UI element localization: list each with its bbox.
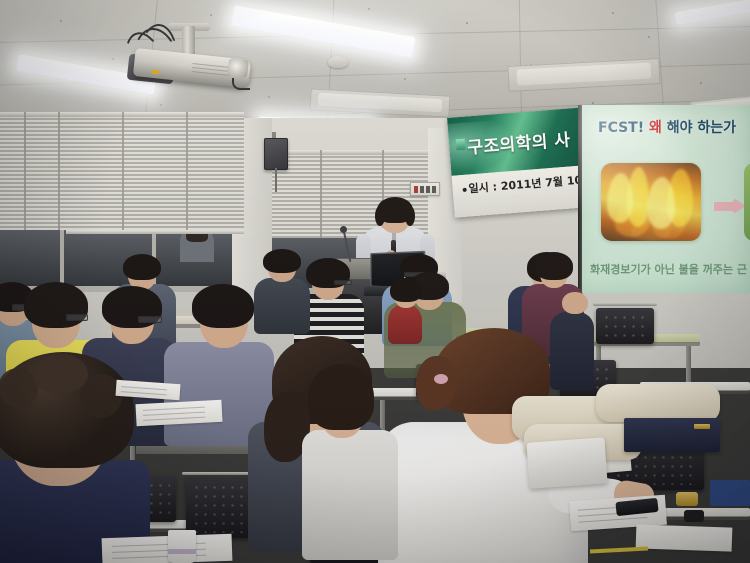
venetian-blinds[interactable] xyxy=(66,112,244,234)
handout-papers xyxy=(102,534,233,563)
ceiling-projector xyxy=(128,26,256,88)
paper-cup xyxy=(168,530,196,563)
glasses-icon xyxy=(138,316,162,323)
secondary-photo xyxy=(744,163,750,241)
stacked-bags xyxy=(596,384,720,422)
small-red-object xyxy=(684,510,704,522)
window-mullion xyxy=(60,228,64,288)
microphone-head-icon xyxy=(340,226,347,233)
projection-screen: FCST! 왜 해야 하는가 화재경보기가 아닌 불을 꺼주는 근 xyxy=(578,105,750,293)
screen-glare xyxy=(578,105,698,218)
banner-bullet-icon xyxy=(463,188,467,192)
gold-trim xyxy=(676,492,698,506)
event-banner: 구조의학의 사 일시 : 2011년 7월 10일 xyxy=(447,107,590,217)
classroom-chair[interactable] xyxy=(596,308,654,344)
slide-caption: 화재경보기가 아닌 불을 꺼주는 근 xyxy=(590,261,747,277)
wall-sign xyxy=(410,182,440,196)
open-notebook xyxy=(526,437,607,488)
arrow-right-icon xyxy=(714,197,748,215)
blue-card xyxy=(710,480,750,506)
speaker-cable xyxy=(275,168,277,192)
glasses-icon xyxy=(66,314,88,321)
wall-speaker xyxy=(264,138,288,170)
gold-trim xyxy=(694,424,710,429)
hair-tie xyxy=(434,374,448,384)
lecture-room-photo: 구조의학의 사 일시 : 2011년 7월 10일 FCST! 왜 해야 하는가… xyxy=(0,0,750,563)
glasses-icon xyxy=(334,280,352,285)
handout-papers xyxy=(636,524,733,551)
handout-papers xyxy=(135,400,222,426)
smoke-detector-icon xyxy=(328,56,348,68)
banner-square-icon xyxy=(456,139,466,151)
